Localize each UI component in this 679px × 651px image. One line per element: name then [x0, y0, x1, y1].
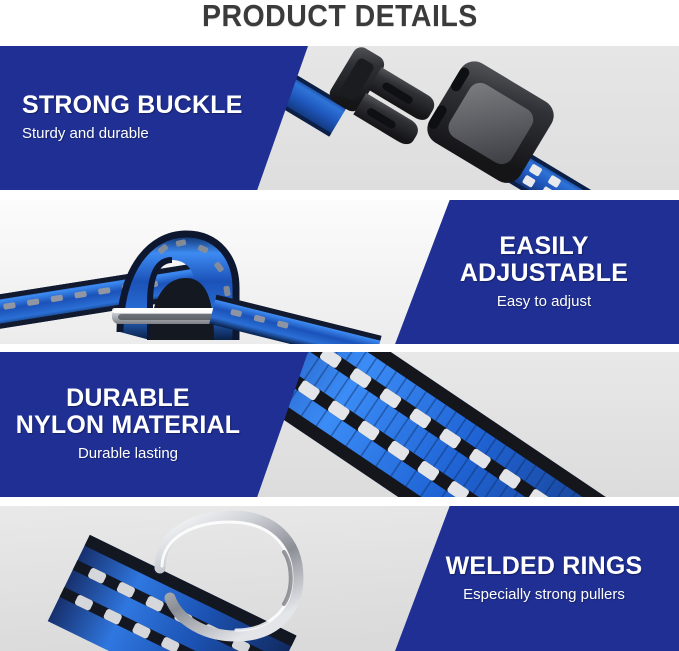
- page-title-bar: PRODUCT DETAILS: [0, 0, 679, 46]
- feature-text-block-durable-nylon-material: DURABLE NYLON MATERIAL Durable lasting: [0, 352, 308, 497]
- feature-panel-durable-nylon-material: DURABLE NYLON MATERIAL Durable lasting: [0, 352, 679, 497]
- feature-panel-strong-buckle: STRONG BUCKLE Sturdy and durable: [0, 46, 679, 190]
- feature-headline: EASILY ADJUSTABLE: [460, 233, 628, 287]
- feature-text-block-strong-buckle: STRONG BUCKLE Sturdy and durable: [0, 46, 308, 190]
- feature-panel-welded-rings: WELDED RINGS Especially strong pullers: [0, 506, 679, 651]
- feature-headline: STRONG BUCKLE: [18, 92, 243, 119]
- feature-subline: Durable lasting: [78, 444, 178, 464]
- page-title: PRODUCT DETAILS: [202, 0, 478, 34]
- feature-panel-easily-adjustable: EASILY ADJUSTABLE Easy to adjust: [0, 200, 679, 344]
- feature-headline: WELDED RINGS: [446, 553, 643, 580]
- feature-subline: Sturdy and durable: [18, 124, 149, 144]
- feature-headline: DURABLE NYLON MATERIAL: [16, 385, 241, 439]
- feature-subline: Easy to adjust: [497, 292, 591, 312]
- feature-subline: Especially strong pullers: [463, 585, 625, 605]
